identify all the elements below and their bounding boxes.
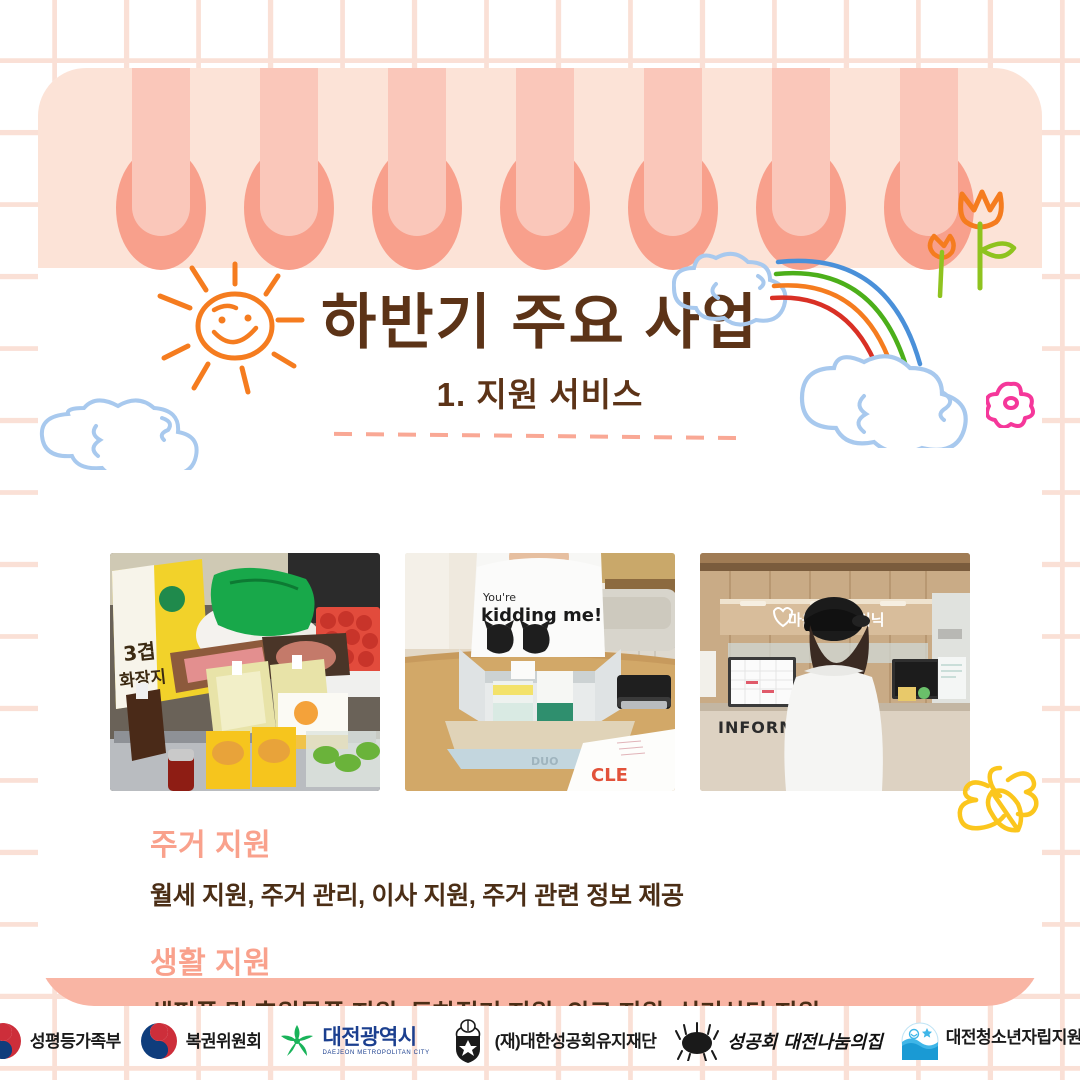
poster-canvas: 하반기 주요 사업 1. 지원 서비스 3겹 화장지: [0, 0, 1080, 1080]
section-heading: 생활 지원: [150, 938, 1010, 982]
photo-care-package: You're kidding me!: [405, 553, 675, 791]
logo-text: 성평등가족부: [30, 1033, 121, 1050]
anglican-shield-icon: [448, 1019, 488, 1063]
youth-center-wave-icon: [901, 1022, 939, 1060]
main-card: 하반기 주요 사업 1. 지원 서비스 3겹 화장지: [38, 68, 1042, 1006]
svg-text:You're: You're: [482, 591, 516, 604]
taegeuk-icon: [0, 1021, 23, 1061]
logo-name: 대전광역시: [322, 1027, 429, 1048]
logo-mogef: 성평등가족부: [0, 1021, 121, 1061]
logo-name: 복권위원회: [186, 1033, 262, 1050]
section-living-support: 생활 지원 생필품 및 후원물품 지원, 동하절기 지원, 의료 지원, 심리상…: [150, 938, 1010, 1006]
logo-text: 대전광역시 DAEJEON METROPOLITAN CITY: [322, 1027, 429, 1056]
taegeuk-icon: [139, 1021, 179, 1061]
section-body: 생필품 및 후원물품 지원, 동하절기 지원, 의료 지원, 심리상담 지원: [150, 994, 1010, 1006]
logo-youth-center: 대전청소년자립지원관 이용형: [901, 1022, 1080, 1060]
logo-subtitle: DAEJEON METROPOLITAN CITY: [322, 1050, 429, 1056]
section-housing-support: 주거 지원 월세 지원, 주거 관리, 이사 지원, 주거 관련 정보 제공: [150, 820, 1010, 912]
logo-name: 성평등가족부: [30, 1033, 121, 1050]
nanum-crown-icon: [674, 1021, 720, 1061]
svg-text:DUO: DUO: [531, 755, 558, 768]
section-body: 월세 지원, 주거 관리, 이사 지원, 주거 관련 정보 제공: [150, 876, 1010, 912]
logo-anglican-foundation: (재)대한성공회유지재단: [448, 1019, 657, 1063]
roller-bar: [772, 68, 830, 236]
logo-nanum-house: 성공회 대전나눔의집: [674, 1021, 882, 1061]
roller-bar: [644, 68, 702, 236]
logo-daejeon-city: 대전광역시 DAEJEON METROPOLITAN CITY: [279, 1023, 429, 1059]
logo-text: (재)대한성공회유지재단: [495, 1033, 657, 1050]
svg-text:CLE: CLE: [591, 765, 628, 786]
dashed-divider: [334, 432, 746, 440]
logo-subtitle: 이용형: [946, 1048, 1080, 1054]
roller-bar: [900, 68, 958, 236]
svg-text:kidding me!: kidding me!: [481, 605, 602, 626]
daejeon-flower-icon: [279, 1023, 315, 1059]
logo-text: 복권위원회: [186, 1033, 262, 1050]
roller-bar: [132, 68, 190, 236]
photo-row: 3겹 화장지: [38, 553, 1042, 791]
roller-bar: [388, 68, 446, 236]
logo-name: (재)대한성공회유지재단: [495, 1033, 657, 1050]
logo-text: 대전청소년자립지원관 이용형: [946, 1029, 1080, 1054]
section-heading: 주거 지원: [150, 820, 1010, 864]
roller-bar: [260, 68, 318, 236]
header-panel: [38, 68, 1042, 268]
page-title: 하반기 주요 사업: [38, 290, 1042, 356]
photo-clinic-desk: 마음사랑클리닉 INFORMATION: [700, 553, 970, 791]
logo-lottery-commission: 복권위원회: [139, 1021, 262, 1061]
title-block: 하반기 주요 사업 1. 지원 서비스: [38, 290, 1042, 438]
support-sections: 주거 지원 월세 지원, 주거 관리, 이사 지원, 주거 관련 정보 제공 생…: [150, 820, 1010, 1006]
svg-text:3겹: 3겹: [122, 639, 157, 666]
footer-logo-bar: 성평등가족부 복권위원회: [0, 1010, 1080, 1072]
page-subtitle: 1. 지원 서비스: [38, 368, 1042, 416]
photo-supplies-cart: 3겹 화장지: [110, 553, 380, 791]
roller-bar: [516, 68, 574, 236]
logo-name: 성공회 대전나눔의집: [727, 1028, 882, 1054]
logo-name: 대전청소년자립지원관: [946, 1029, 1080, 1046]
